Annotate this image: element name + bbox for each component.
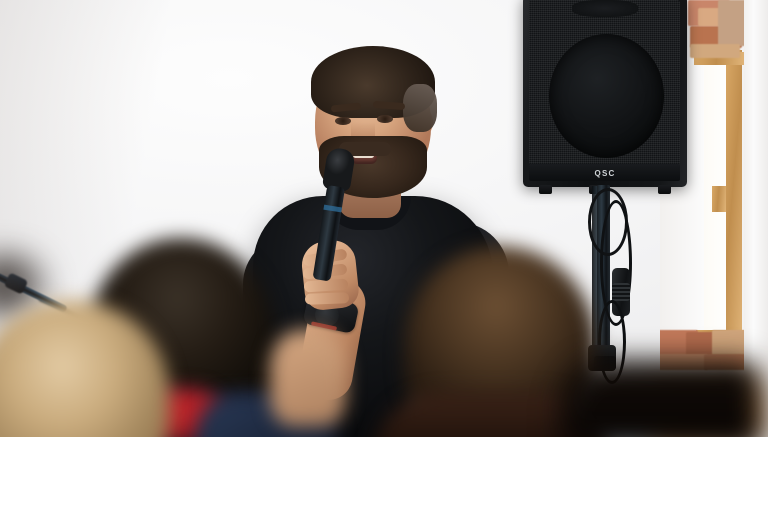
connector-ribs <box>612 283 630 301</box>
speaker-foot-right <box>658 185 671 194</box>
hair-temple-grey <box>403 84 437 132</box>
eye-right <box>377 115 393 123</box>
speaker-foot-left <box>539 185 552 194</box>
pa-speaker-qsc: QSC <box>523 0 687 187</box>
speaker-horn <box>572 0 638 17</box>
eu-cofunded-event-photo-card: QSC <box>0 0 768 512</box>
speaker-woofer-cone <box>549 34 664 158</box>
audience-arm <box>270 330 346 426</box>
footer-bar: Sofinancira Evropska unija Sofinancira E… <box>0 437 768 512</box>
eye-left <box>335 117 351 125</box>
event-photograph: QSC <box>0 0 768 437</box>
qsc-brand-logo: QSC <box>523 169 687 178</box>
finger-4 <box>305 292 349 305</box>
foreground-blur-right <box>560 360 760 437</box>
